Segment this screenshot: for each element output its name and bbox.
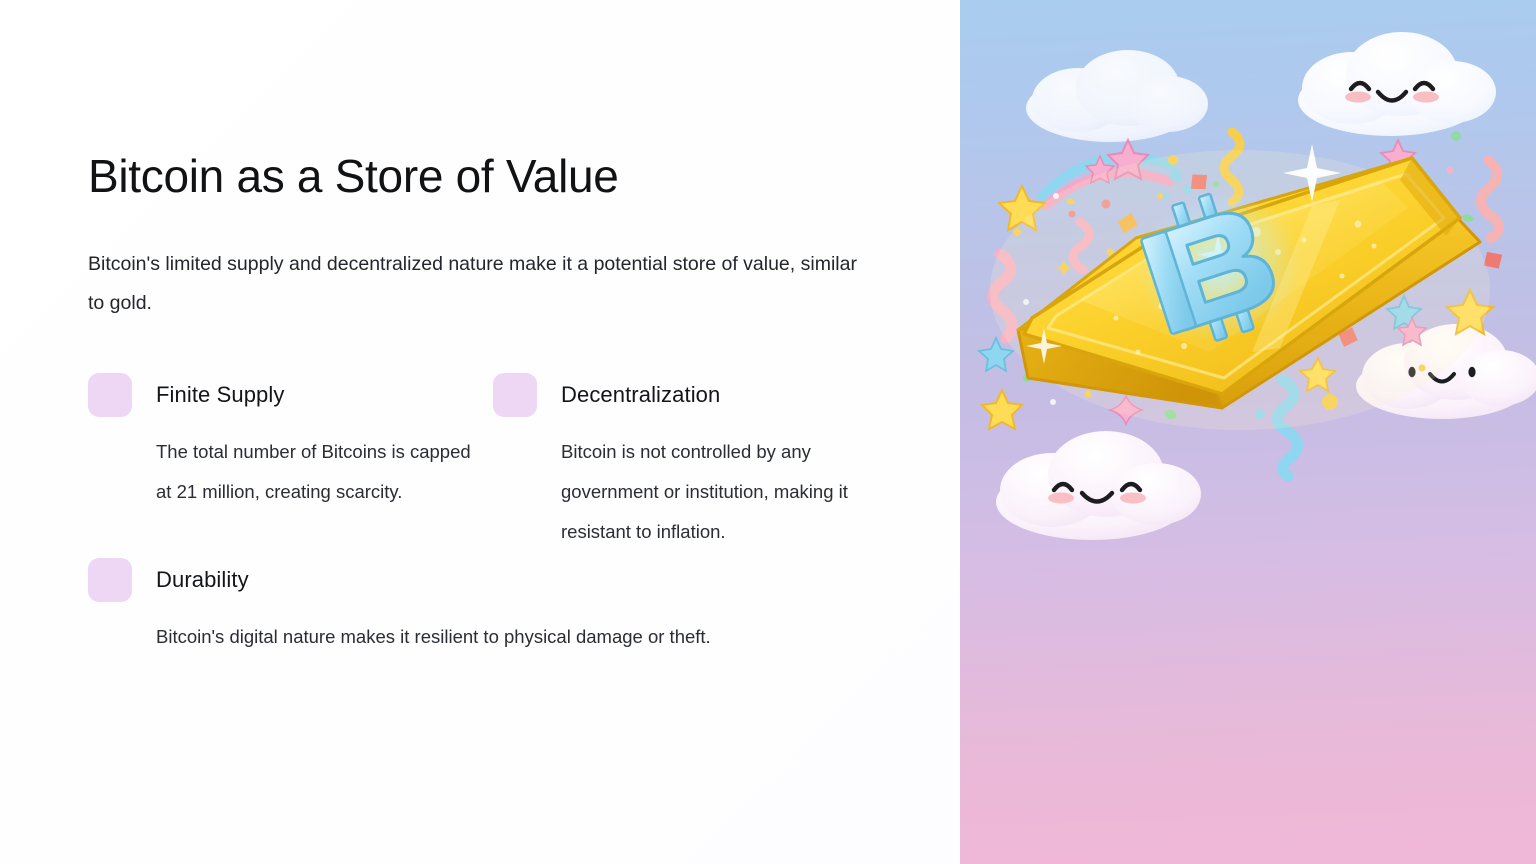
feature-title: Decentralization [561, 382, 720, 408]
cloud-eye-right [1468, 367, 1475, 377]
content-panel: Bitcoin as a Store of Value Bitcoin's li… [0, 0, 960, 864]
smiling-cloud-top-right [1298, 32, 1496, 136]
yellow-star-icon [982, 390, 1022, 429]
pink-ribbon-streamer-right [1481, 160, 1499, 238]
page-subtitle: Bitcoin's limited supply and decentraliz… [88, 245, 868, 322]
cloud-blush-left [1345, 92, 1371, 103]
feature-description: Bitcoin's digital nature makes it resili… [156, 617, 916, 657]
illustration-panel [960, 0, 1536, 864]
square-bullet-icon [88, 373, 132, 417]
feature-item-finite-supply: Finite Supply The total number of Bitcoi… [88, 374, 493, 559]
feature-title: Finite Supply [156, 382, 284, 408]
feature-item-decentralization: Decentralization Bitcoin is not controll… [493, 374, 898, 559]
square-bullet-icon [493, 373, 537, 417]
feature-header: Finite Supply [88, 374, 493, 416]
slide-root: Bitcoin as a Store of Value Bitcoin's li… [0, 0, 1536, 864]
page-title: Bitcoin as a Store of Value [88, 150, 960, 203]
square-bullet-icon [88, 558, 132, 602]
smiling-cloud-bottom-left [996, 431, 1201, 540]
feature-header: Decentralization [493, 374, 898, 416]
feature-description: Bitcoin is not controlled by any governm… [561, 432, 891, 551]
gold-bar-bitcoin-illustration [960, 0, 1536, 864]
cloud-blush-right [1413, 92, 1439, 103]
cloud-blush-right [1120, 493, 1146, 504]
feature-title: Durability [156, 567, 249, 593]
cloud-blush-left [1048, 493, 1074, 504]
plain-cloud-top-left [1026, 50, 1208, 142]
feature-grid: Finite Supply The total number of Bitcoi… [88, 374, 918, 665]
feature-description: The total number of Bitcoins is capped a… [156, 432, 486, 512]
feature-header: Durability [88, 559, 898, 601]
feature-item-durability: Durability Bitcoin's digital nature make… [88, 559, 898, 665]
